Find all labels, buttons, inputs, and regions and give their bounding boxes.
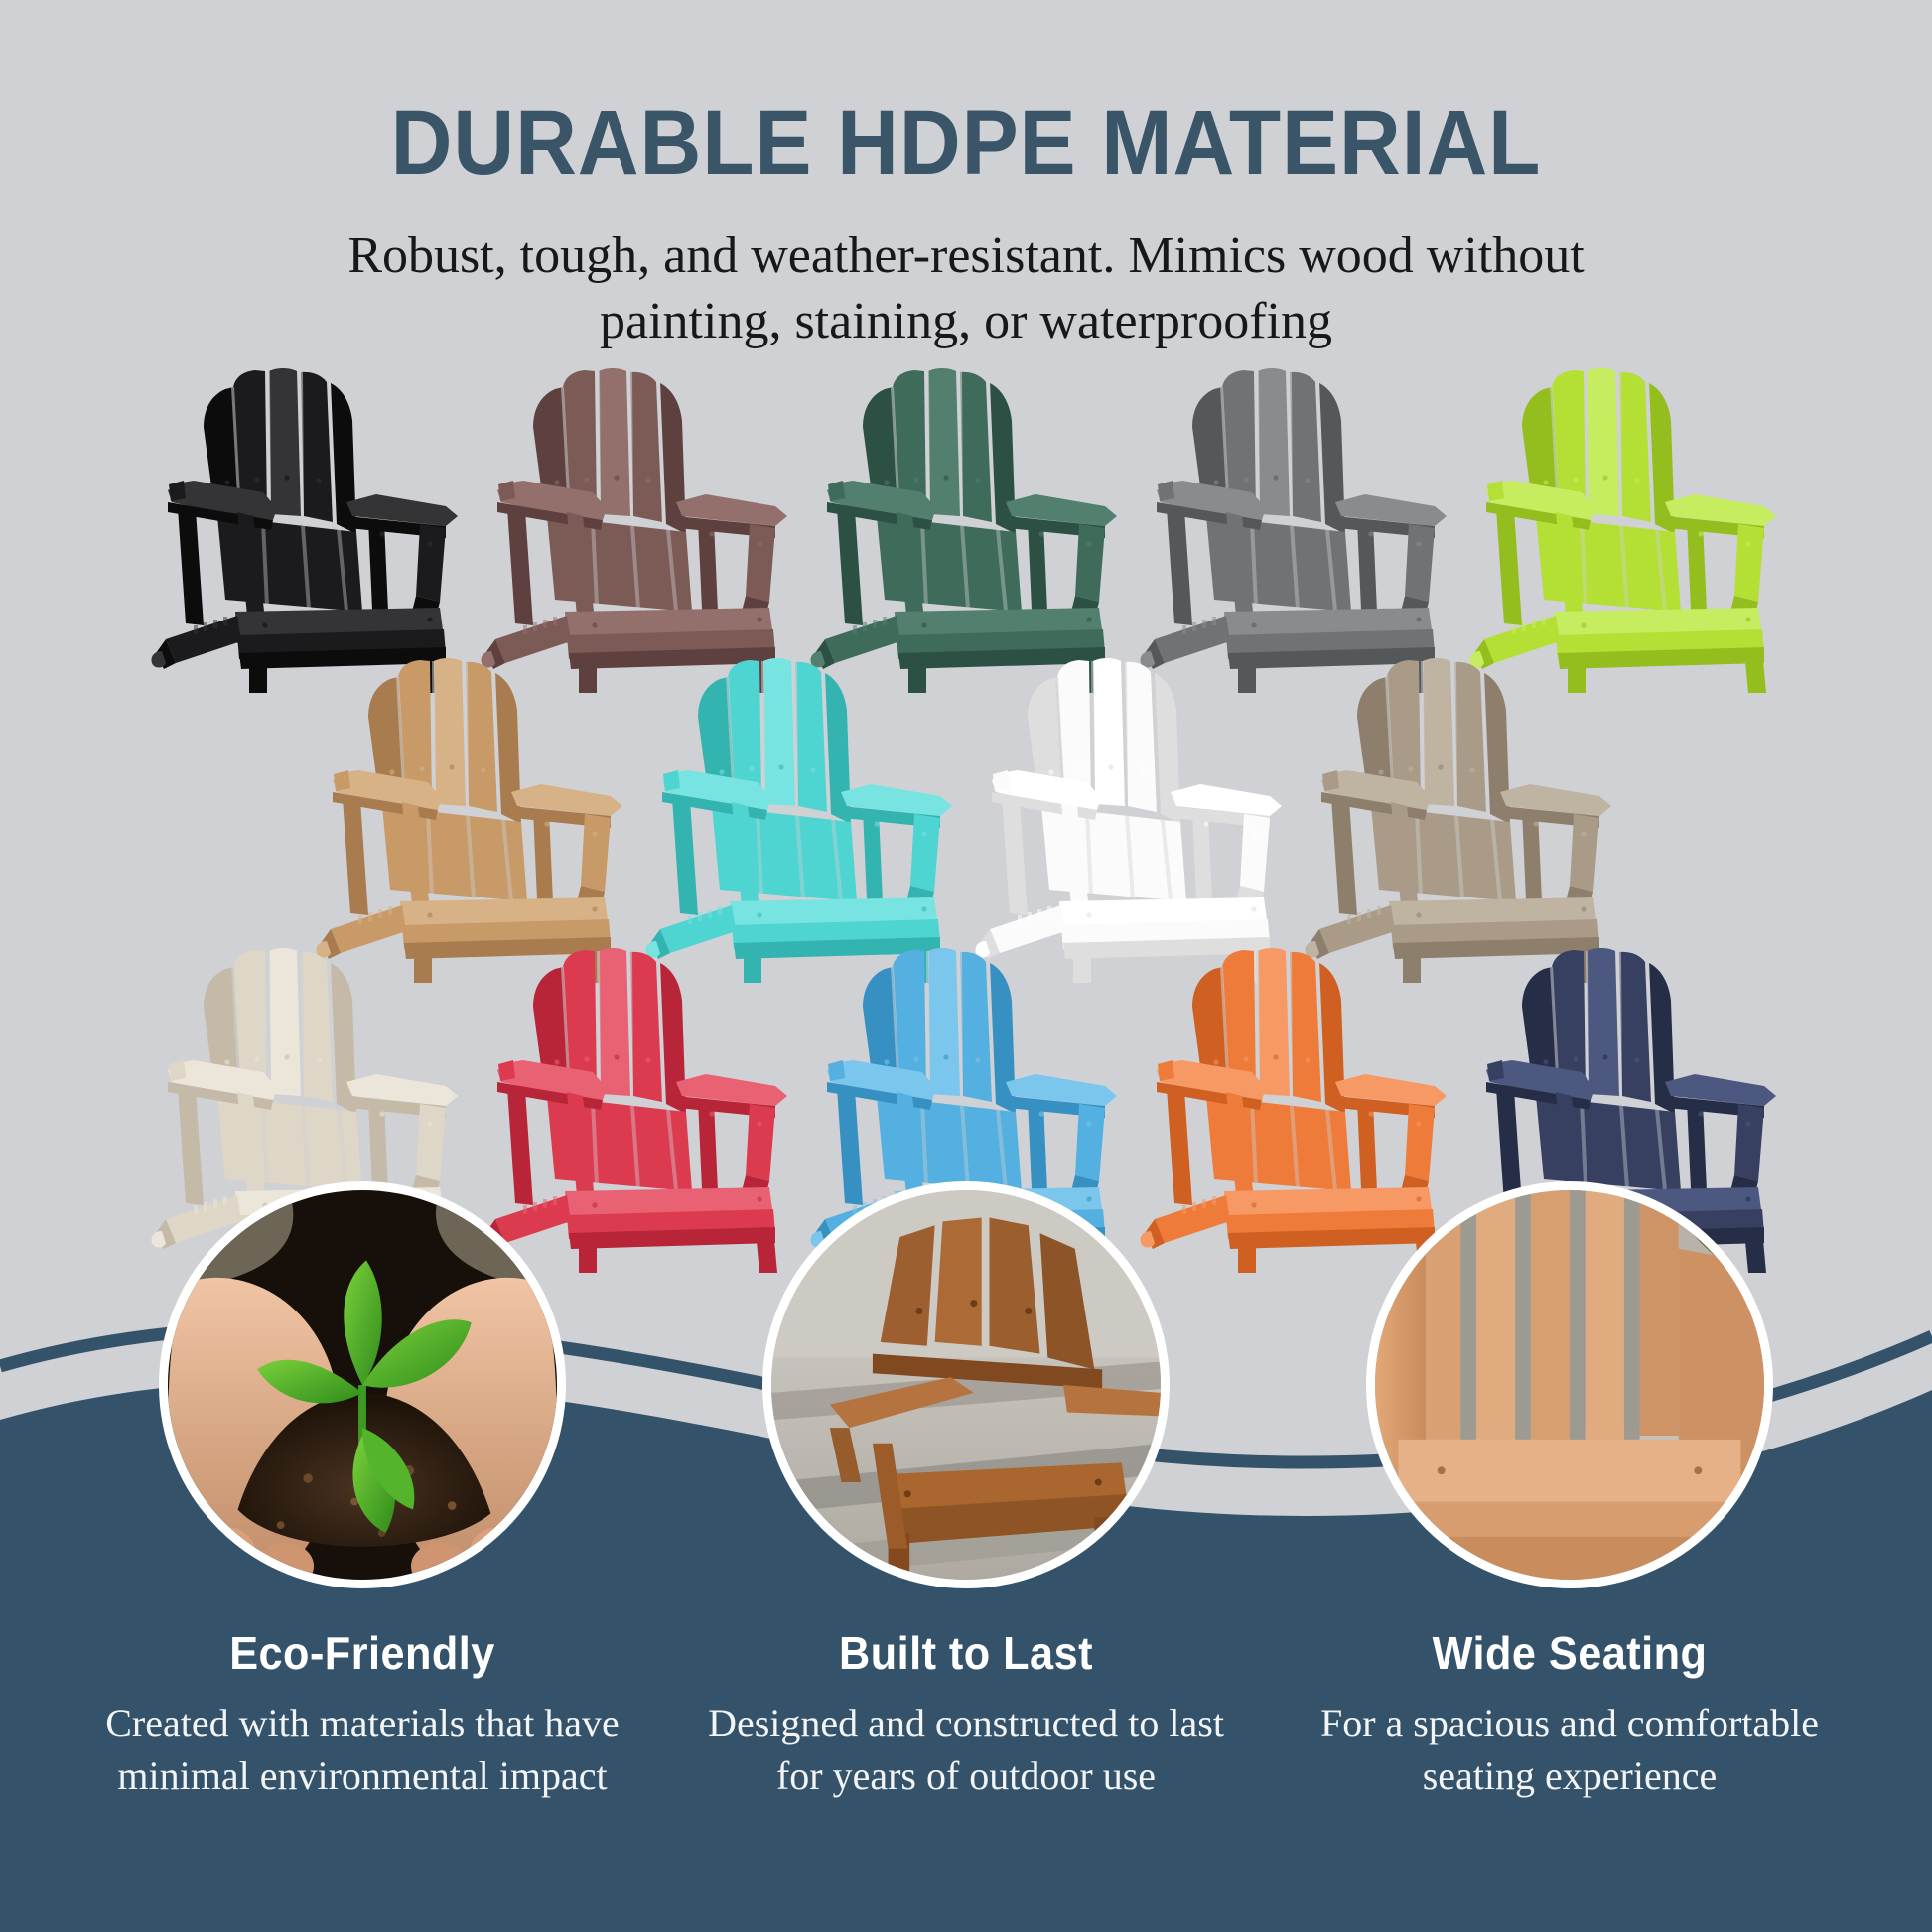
chair-right-post-gray (1357, 520, 1377, 612)
chair-swatch-turquoise[interactable] (636, 655, 966, 983)
chair-right-armrest-ivory (346, 1074, 458, 1197)
feature-eco-friendly: Eco-Friendly Created with materials that… (84, 1181, 640, 1803)
chair-swatch-brown[interactable] (472, 365, 801, 693)
adirondack-chair-black[interactable] (142, 365, 472, 693)
chair-left-post-gray (1167, 508, 1192, 625)
chair-swatch-khaki[interactable] (1296, 655, 1625, 983)
feature-description-built-to-last: Designed and constructed to last for yea… (688, 1698, 1244, 1803)
chair-left-post-turquoise (672, 798, 698, 915)
adirondack-chair-white[interactable] (966, 655, 1296, 983)
chair-swatch-teak[interactable] (307, 655, 636, 983)
chair-left-post-teak (343, 798, 368, 915)
chair-right-post-khaki (1522, 810, 1542, 901)
adirondack-chair-gray[interactable] (1131, 365, 1460, 693)
chair-right-post-turquoise (863, 810, 883, 901)
feature-description-wide-seating: For a spacious and comfortable seating e… (1292, 1698, 1848, 1803)
chair-color-grid (0, 365, 1932, 1273)
chair-left-post-khaki (1331, 798, 1357, 915)
chair-right-post-black (368, 520, 388, 612)
chair-right-post-dark-green (1028, 520, 1047, 612)
chair-right-post-brown (698, 520, 718, 612)
page-subtitle: Robust, tough, and weather-resistant. Mi… (306, 223, 1626, 355)
adirondack-chair-turquoise[interactable] (636, 655, 966, 983)
feature-title-eco-friendly: Eco-Friendly (101, 1626, 623, 1680)
brown-chair-on-patio-photo (771, 1190, 1161, 1580)
chair-right-armrest-orange (1335, 1074, 1447, 1197)
chair-row-2 (0, 655, 1932, 983)
feature-title-wide-seating: Wide Seating (1309, 1626, 1831, 1680)
chair-right-armrest-lime-green (1665, 494, 1776, 618)
chair-left-post-lime-green (1496, 508, 1522, 625)
chair-right-post-teak (533, 810, 553, 901)
adirondack-chair-dark-green[interactable] (801, 365, 1131, 693)
chair-left-post-black (178, 508, 204, 625)
feature-image-eco-friendly (159, 1181, 566, 1588)
chair-left-post-dark-green (837, 508, 863, 625)
chair-right-armrest-gray (1335, 494, 1447, 618)
chair-right-armrest-white (1171, 784, 1282, 907)
chair-right-armrest-brown (676, 494, 787, 618)
adirondack-chair-lime-green[interactable] (1460, 365, 1790, 693)
chair-right-armrest-teak (511, 784, 622, 907)
adirondack-chair-khaki[interactable] (1296, 655, 1625, 983)
feature-image-built-to-last (762, 1181, 1170, 1588)
chair-right-armrest-turquoise (841, 784, 952, 907)
feature-built-to-last: Built to Last Designed and constructed t… (688, 1181, 1244, 1803)
chair-left-post-white (1002, 798, 1028, 915)
chair-left-post-brown (507, 508, 533, 625)
feature-image-wide-seating (1366, 1181, 1773, 1588)
chair-right-post-orange (1357, 1100, 1377, 1191)
chair-swatch-gray[interactable] (1131, 365, 1460, 693)
chair-right-armrest-black (346, 494, 458, 618)
chair-right-post-sky-blue (1028, 1100, 1047, 1191)
chair-right-post-white (1192, 810, 1212, 901)
chair-right-post-red (698, 1100, 718, 1191)
chair-swatch-black[interactable] (142, 365, 472, 693)
chair-swatch-white[interactable] (966, 655, 1296, 983)
page-title: DURABLE HDPE MATERIAL (68, 95, 1864, 192)
chair-row-1 (0, 365, 1932, 693)
chair-right-armrest-navy-blue (1665, 1074, 1776, 1197)
chair-right-armrest-khaki (1500, 784, 1611, 907)
chair-right-post-ivory (368, 1100, 388, 1191)
chair-right-armrest-sky-blue (1006, 1074, 1117, 1197)
closeup-tan-chair-wide-seat-photo (1375, 1190, 1764, 1580)
header-section: DURABLE HDPE MATERIAL Robust, tough, and… (0, 0, 1932, 355)
adirondack-chair-brown[interactable] (472, 365, 801, 693)
chair-right-post-lime-green (1687, 520, 1707, 612)
feature-wide-seating: Wide Seating For a spacious and comforta… (1292, 1181, 1848, 1803)
features-section: Eco-Friendly Created with materials that… (0, 1181, 1932, 1803)
chair-right-armrest-red (676, 1074, 787, 1197)
chair-right-post-navy-blue (1687, 1100, 1707, 1191)
feature-title-built-to-last: Built to Last (705, 1626, 1227, 1680)
hands-holding-soil-seedling-illustration (168, 1190, 557, 1580)
chair-right-armrest-dark-green (1006, 494, 1117, 618)
feature-description-eco-friendly: Created with materials that have minimal… (84, 1698, 640, 1803)
adirondack-chair-teak[interactable] (307, 655, 636, 983)
chair-swatch-lime-green[interactable] (1460, 365, 1790, 693)
chair-front-left-leg-black (249, 659, 267, 693)
chair-swatch-dark-green[interactable] (801, 365, 1131, 693)
